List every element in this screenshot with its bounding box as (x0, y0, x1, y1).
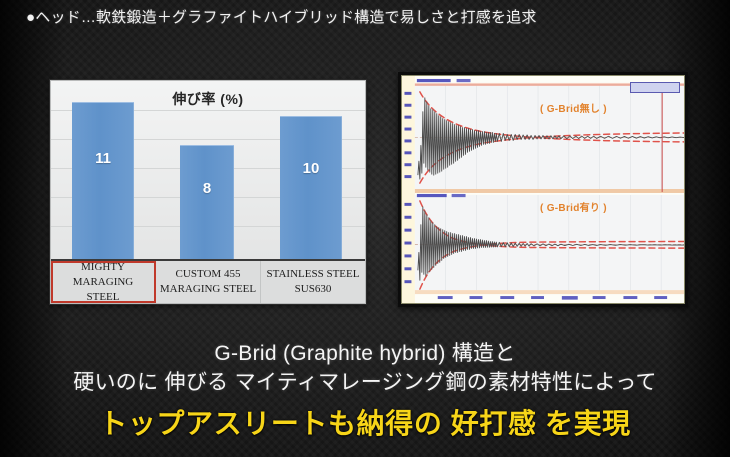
category-label-mighty-maraging-steel: MIGHTY MARAGING STEEL (51, 261, 156, 303)
chart-axis-line (51, 259, 365, 261)
elongation-bar-chart: 伸び率 (%) 11 8 10 MIGHTY MARAGING STEEL C (50, 80, 366, 304)
bar-custom-455-maraging-steel: 8 (180, 145, 234, 259)
scope-cursor-readout-box (630, 82, 680, 93)
category-label-stainless-steel-sus630: STAINLESS STEEL SUS630 (261, 261, 365, 303)
bottom-copy-block: G-Brid (Graphite hybrid) 構造と 硬いのに 伸びる マイ… (0, 340, 730, 442)
category-label-line: MARAGING STEEL (160, 282, 256, 297)
chart-title: 伸び率 (%) (51, 89, 365, 109)
copy-headline: トップアスリートも納得の 好打感 を実現 (0, 406, 730, 442)
scope-screen: ( G-Brid無し ) ( G-Brid有り ) (401, 75, 685, 304)
bar-mighty-maraging-steel: 11 (72, 102, 134, 259)
category-label-line: STAINLESS STEEL (267, 267, 360, 282)
category-label-line: SUS630 (295, 282, 332, 297)
category-label-line: STEEL (87, 290, 120, 305)
copy-line-2: 硬いのに 伸びる マイティマレージング鋼の素材特性によって (0, 368, 730, 398)
category-label-line: CUSTOM 455 (176, 267, 241, 282)
category-label-line: MIGHTY MARAGING (51, 260, 155, 290)
chart-category-labels: MIGHTY MARAGING STEEL CUSTOM 455 MARAGIN… (51, 261, 365, 303)
bar-value-label: 11 (72, 150, 134, 167)
vibration-waveform-panel: ( G-Brid無し ) ( G-Brid有り ) (398, 72, 688, 307)
scope-annotation-without-gbrid: ( G-Brid無し ) (540, 100, 607, 115)
bar-value-label: 8 (180, 180, 234, 197)
copy-line-1: G-Brid (Graphite hybrid) 構造と (0, 340, 730, 368)
bar-value-label: 10 (280, 160, 342, 177)
chart-plot-area: 伸び率 (%) 11 8 10 (51, 81, 365, 259)
scope-annotation-with-gbrid: ( G-Brid有り ) (540, 199, 607, 214)
category-label-custom-455-maraging-steel: CUSTOM 455 MARAGING STEEL (156, 261, 261, 303)
header-bullet-text: ●ヘッド…軟鉄鍛造＋グラファイトハイブリッド構造で易しさと打感を追求 (26, 8, 710, 28)
slide-background: ●ヘッド…軟鉄鍛造＋グラファイトハイブリッド構造で易しさと打感を追求 伸び率 (… (0, 0, 730, 457)
bar-stainless-steel-sus630: 10 (280, 116, 342, 259)
